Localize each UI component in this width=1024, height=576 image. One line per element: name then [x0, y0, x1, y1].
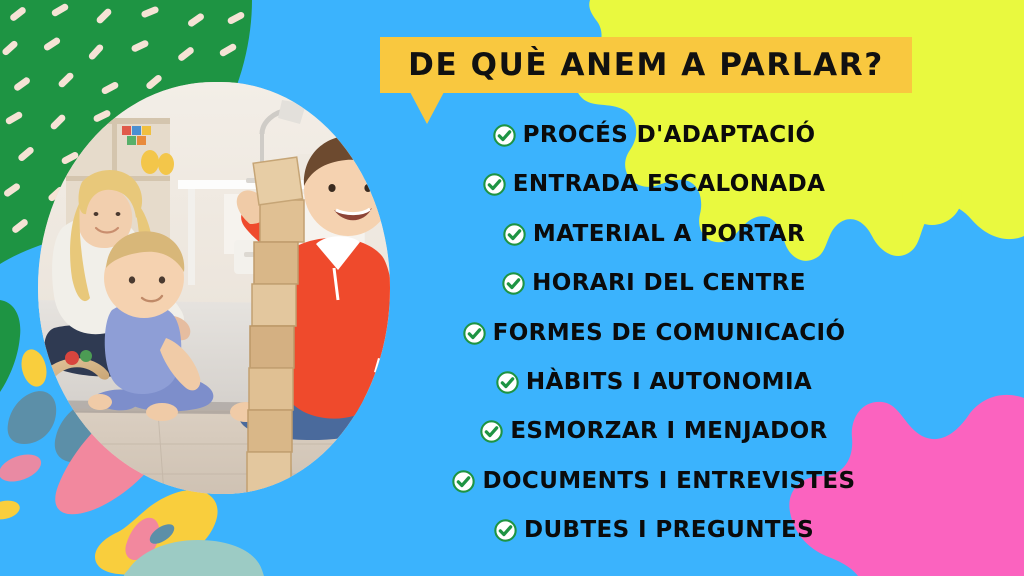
topic-list-item[interactable]: Entrada escalonada — [483, 173, 826, 196]
check-circle-icon — [496, 371, 519, 394]
topic-list-item[interactable]: Material a portar — [503, 223, 805, 246]
presentation-slide: De què anem a parlar? Procés d'adaptació… — [0, 0, 1024, 576]
petal-green-left — [0, 300, 20, 392]
banner-tail-pointer — [410, 92, 444, 124]
blob-pale-teal-bottom — [124, 540, 264, 576]
check-circle-icon — [452, 470, 475, 493]
check-circle-icon — [503, 223, 526, 246]
topic-list-item[interactable]: Documents i entrevistes — [452, 470, 855, 493]
topic-list-item[interactable]: Hàbits i autonomia — [496, 371, 812, 394]
photo-container — [38, 82, 390, 494]
check-circle-icon — [502, 272, 525, 295]
topic-list-item[interactable]: Formes de comunicació — [463, 322, 846, 345]
topic-list-item-label: Horari del centre — [532, 272, 806, 295]
petal-teal-small — [146, 520, 177, 547]
check-circle-icon — [493, 124, 516, 147]
page-title: De què anem a parlar? — [408, 47, 884, 83]
topic-list-item[interactable]: Dubtes i preguntes — [494, 519, 814, 542]
check-circle-icon — [480, 420, 503, 443]
photo-children-playing — [38, 82, 390, 494]
topic-list-item-label: Formes de comunicació — [493, 322, 846, 345]
topic-list-item-label: Dubtes i preguntes — [524, 519, 814, 542]
topic-list-item[interactable]: Procés d'adaptació — [493, 124, 816, 147]
topic-list-item-label: Esmorzar i menjador — [510, 420, 827, 443]
topic-list: Procés d'adaptacióEntrada escalonadaMate… — [404, 120, 904, 550]
check-circle-icon — [463, 322, 486, 345]
topic-list-item[interactable]: Horari del centre — [502, 272, 806, 295]
check-circle-icon — [483, 173, 506, 196]
petal-yellow-teardrop — [95, 490, 218, 575]
splat-dot — [902, 167, 962, 225]
topic-list-item-label: Entrada escalonada — [513, 173, 826, 196]
petal-yellow-edge — [0, 498, 22, 522]
topic-list-item-label: Documents i entrevistes — [482, 470, 855, 493]
title-banner: De què anem a parlar? — [380, 37, 912, 93]
topic-list-item-label: Hàbits i autonomia — [526, 371, 812, 394]
petal-pink-small — [125, 518, 159, 560]
check-circle-icon — [494, 519, 517, 542]
topic-list-item[interactable]: Esmorzar i menjador — [480, 420, 827, 443]
topic-list-item-label: Procés d'adaptació — [523, 124, 816, 147]
topic-list-item-label: Material a portar — [533, 223, 805, 246]
